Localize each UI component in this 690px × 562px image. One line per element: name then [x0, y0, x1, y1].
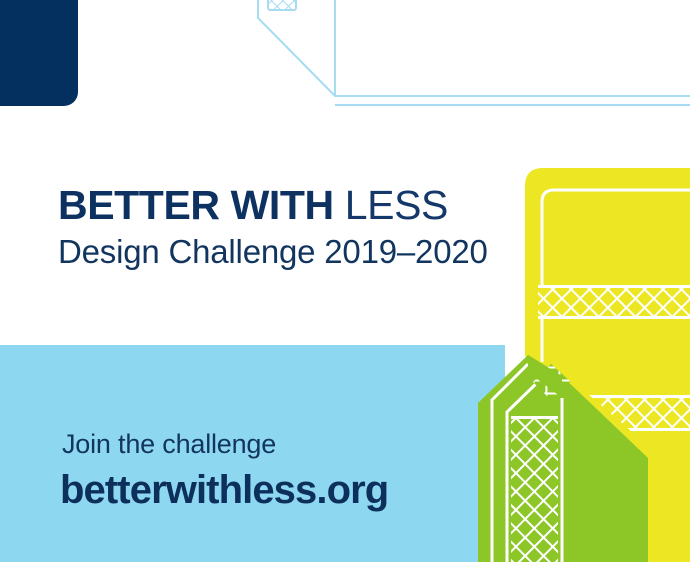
headline-part-light: LESS	[345, 182, 448, 228]
page-subtitle: Design Challenge 2019–2020	[58, 232, 488, 272]
crosshatch-swatch	[268, 0, 296, 10]
poster-canvas: BETTER WITH LESS Design Challenge 2019–2…	[0, 0, 690, 562]
navy-corner-block	[0, 0, 78, 106]
headline-part-bold: BETTER	[58, 182, 220, 228]
page-title: BETTER WITH LESS	[58, 182, 448, 228]
yellow-panel	[525, 168, 690, 562]
blue-outline-lineart	[0, 0, 690, 130]
headline-part-medium: WITH	[231, 182, 334, 228]
cta-join-label: Join the challenge	[62, 428, 276, 460]
cta-website-url[interactable]: betterwithless.org	[60, 466, 388, 514]
